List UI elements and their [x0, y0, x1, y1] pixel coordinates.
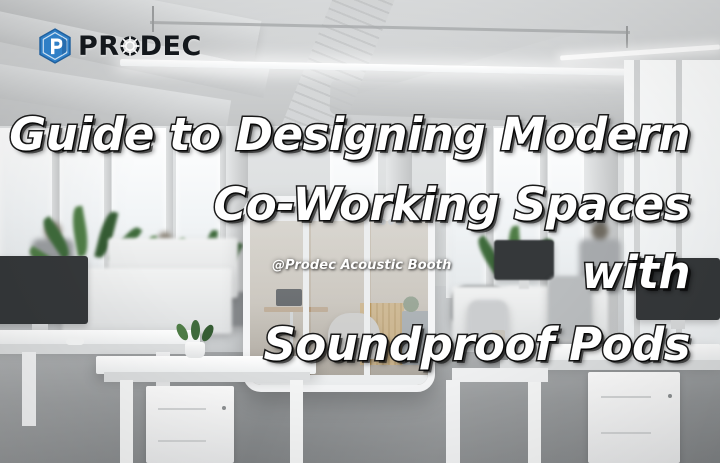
prodec-hexagon-p-icon [38, 28, 72, 64]
prodec-wordmark: PR [78, 33, 202, 60]
photo-vignette [0, 0, 720, 463]
prodec-logo[interactable]: PR [38, 28, 202, 64]
logo-text-pr: PR [78, 31, 120, 62]
office-background-photo [0, 0, 720, 463]
product-caption: @Prodec Acoustic Booth [272, 258, 451, 273]
hero-banner: PR [0, 0, 720, 463]
logo-text-dec: DEC [140, 31, 202, 62]
